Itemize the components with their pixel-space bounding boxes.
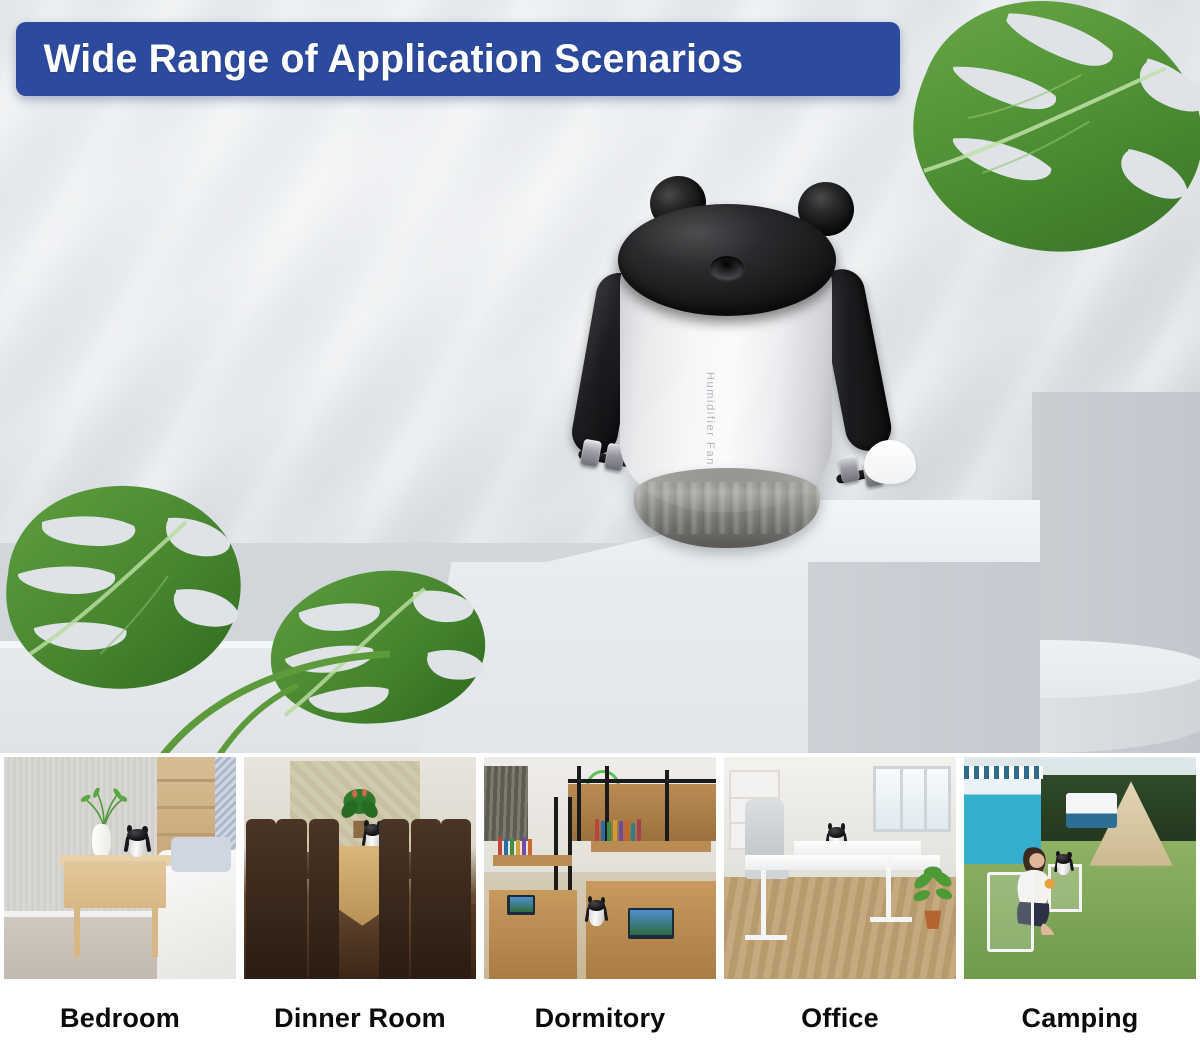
scenario-label-dinner-room: Dinner Room — [244, 1003, 476, 1034]
scenario-thumbnail-bedroom[interactable] — [4, 757, 236, 979]
bedroom-pillow — [171, 837, 231, 873]
office-window — [873, 766, 952, 833]
bedroom-nightstand — [64, 861, 166, 908]
dinner-chair — [246, 819, 276, 979]
headline-banner: Wide Range of Application Scenarios — [16, 22, 900, 96]
scenario-label-dormitory: Dormitory — [484, 1003, 716, 1034]
dorm-curtain — [484, 766, 528, 841]
dinner-chair — [276, 819, 306, 979]
bedroom-floor — [4, 917, 157, 979]
product-foot-cap-left-a — [580, 439, 602, 468]
dinner-chair — [379, 819, 409, 979]
headline-text: Wide Range of Application Scenarios — [16, 37, 743, 82]
product-foot-cap-right-a — [838, 455, 861, 484]
camping-camper-van — [1066, 793, 1117, 829]
scenario-thumbnail-strip — [0, 757, 1200, 979]
scenario-thumbnail-camping[interactable] — [964, 757, 1196, 979]
product-image: Humidifier Fan — [548, 168, 918, 568]
scenario-thumbnail-dormitory[interactable] — [484, 757, 716, 979]
scenario-label-office: Office — [724, 1003, 956, 1034]
bedroom-vase — [92, 824, 111, 860]
product-body-label: Humidifier Fan — [704, 372, 716, 466]
dinner-chair — [441, 819, 471, 979]
monstera-stems — [150, 636, 390, 753]
dorm-bed-rail — [568, 779, 716, 783]
product-in-scene-dormitory — [586, 895, 607, 928]
scenario-label-camping: Camping — [964, 1003, 1196, 1034]
product-white-fin — [864, 440, 916, 484]
monstera-leaf-top-right — [880, 0, 1200, 260]
office-standing-desk — [745, 855, 940, 871]
dorm-loft-bed — [568, 784, 716, 842]
scenario-label-row: Bedroom Dinner Room Dormitory Office Cam… — [0, 983, 1200, 1053]
dinner-chair — [411, 819, 441, 979]
scenario-label-bedroom: Bedroom — [4, 1003, 236, 1034]
office-plant — [912, 864, 954, 931]
dinner-chair — [309, 819, 339, 979]
hero-section: Humidifier Fan Wide Range of Application… — [0, 0, 1200, 753]
mist-nozzle-icon — [710, 256, 744, 280]
product-in-scene-bedroom — [125, 824, 151, 860]
camping-folding-chair — [987, 872, 1033, 952]
cube-podium-side — [808, 562, 1040, 753]
scenario-thumbnail-office[interactable] — [724, 757, 956, 979]
scenario-thumbnail-dinner-room[interactable] — [244, 757, 476, 979]
camping-awning — [964, 766, 1043, 779]
bedroom-plant — [81, 788, 127, 828]
